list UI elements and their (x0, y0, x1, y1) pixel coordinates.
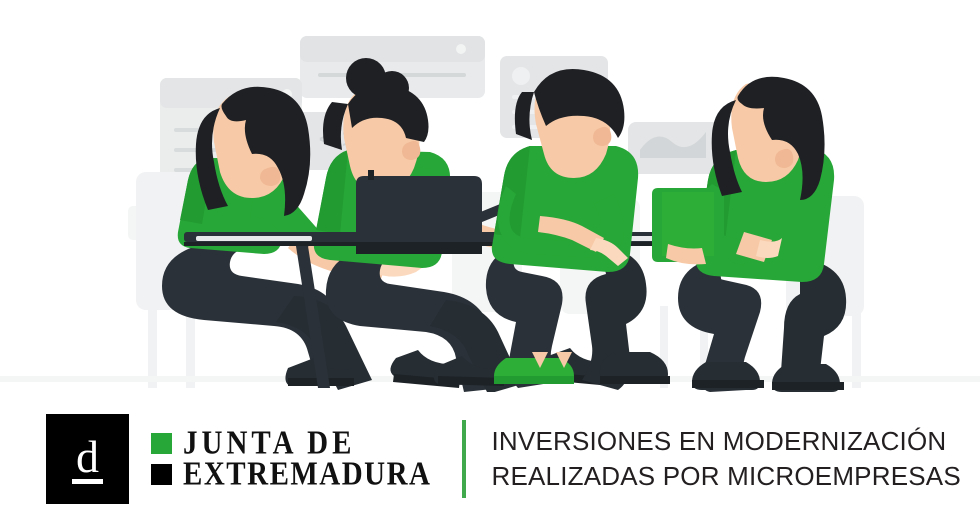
logo-lockup: d JUNTA DE EXTREMADURA (46, 414, 432, 504)
green-divider (462, 420, 466, 498)
footer-brand-bar: d JUNTA DE EXTREMADURA INVERSIONES EN MO… (0, 392, 980, 525)
banner: </> (0, 0, 980, 525)
card-chart (628, 122, 720, 174)
illustration-teamwork: </> (0, 0, 980, 392)
d-logo-glyph: d (46, 434, 129, 480)
headline-line-1: INVERSIONES EN MODERNIZACIÓN (492, 424, 961, 458)
junta-extremadura-logo: JUNTA DE EXTREMADURA (151, 429, 432, 489)
junta-line-2: EXTREMADURA (151, 460, 432, 489)
junta-black-square (151, 464, 172, 485)
d-logo-underline (72, 479, 103, 484)
junta-label-line2: EXTREMADURA (183, 457, 432, 491)
illustration-svg: </> (0, 0, 980, 392)
diario-d-logo: d (46, 414, 129, 504)
junta-green-square (151, 433, 172, 454)
junta-line-1: JUNTA DE (151, 429, 432, 458)
headline-block: INVERSIONES EN MODERNIZACIÓN REALIZADAS … (492, 424, 961, 493)
headline-line-2: REALIZADAS POR MICROEMPRESAS (492, 459, 961, 493)
